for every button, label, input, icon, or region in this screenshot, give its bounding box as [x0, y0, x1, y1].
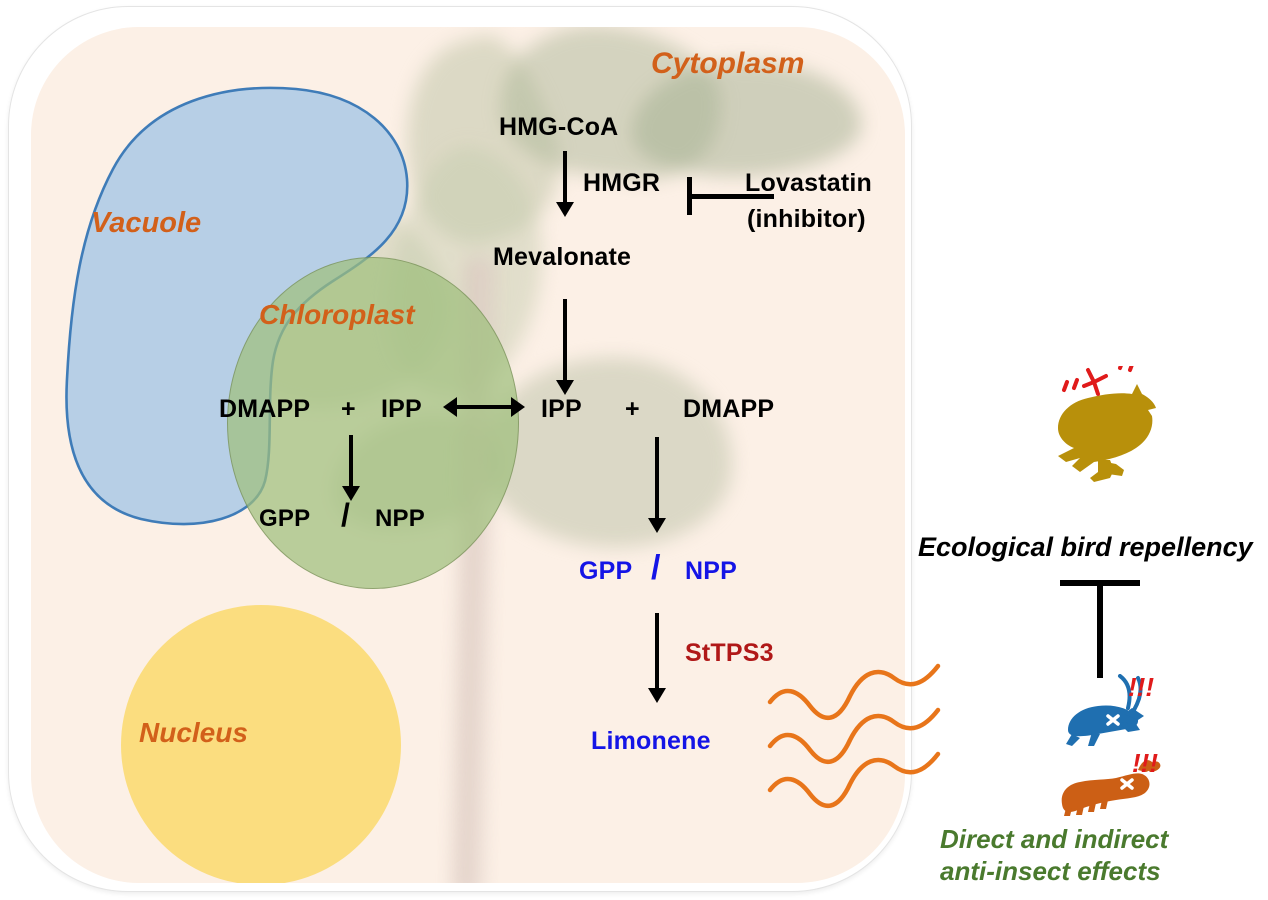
mevalonate-label: Mevalonate [493, 243, 631, 272]
lovastatin-note-label: (inhibitor) [747, 205, 866, 234]
arrow-ipp-exchange [443, 397, 525, 417]
insect-inhibition-bar [1060, 580, 1140, 680]
plastid-plus-sign: + [341, 395, 356, 424]
bird-repellency-caption: Ecological bird repellency [918, 532, 1253, 563]
vacuole-label: Vacuole [91, 207, 201, 240]
arrow-ipp-dmapp-to-gpp-npp [647, 437, 667, 533]
plastid-gpp-label: GPP [259, 505, 310, 533]
arrow-gpp-to-limonene [647, 613, 667, 703]
hmgr-enzyme-label: HMGR [583, 169, 660, 198]
insect-effects-caption-line2: anti-insect effects [940, 856, 1161, 887]
cytosolic-plus-sign: + [625, 395, 640, 424]
arrow-plastid-ipp-to-gpp [341, 435, 361, 501]
lovastatin-label: Lovastatin [745, 169, 872, 198]
insect-effects-caption-line1: Direct and indirect [940, 824, 1168, 855]
nucleus-label: Nucleus [139, 717, 248, 749]
plastid-dmapp-label: DMAPP [219, 395, 310, 424]
cytosolic-npp-label: NPP [685, 557, 737, 586]
cytosolic-ipp-label: IPP [541, 395, 582, 424]
cytosolic-slash: / [651, 549, 661, 588]
cytoplasm-label: Cytoplasm [651, 47, 804, 81]
diagram-canvas: Cytoplasm Vacuole Chloroplast Nucleus HM… [0, 0, 1268, 900]
plastid-slash: / [341, 497, 350, 534]
grasshopper-alert-marks: !!! [1128, 672, 1154, 703]
plastid-ipp-label: IPP [381, 395, 422, 424]
cytosolic-gpp-label: GPP [579, 557, 632, 586]
arrow-hmgcoa-to-mevalonate [555, 151, 575, 217]
bird-icon [1036, 366, 1166, 486]
arrow-mevalonate-to-ipp [555, 299, 575, 395]
limonene-label: Limonene [591, 727, 711, 756]
sttps3-enzyme-label: StTPS3 [685, 639, 774, 668]
volatile-emission-waves [762, 660, 962, 820]
chloroplast-label: Chloroplast [259, 299, 415, 331]
caterpillar-alert-marks: !!! [1132, 748, 1158, 779]
cytosolic-dmapp-label: DMAPP [683, 395, 774, 424]
hmg-coa-label: HMG-CoA [499, 113, 618, 142]
plastid-npp-label: NPP [375, 505, 425, 533]
